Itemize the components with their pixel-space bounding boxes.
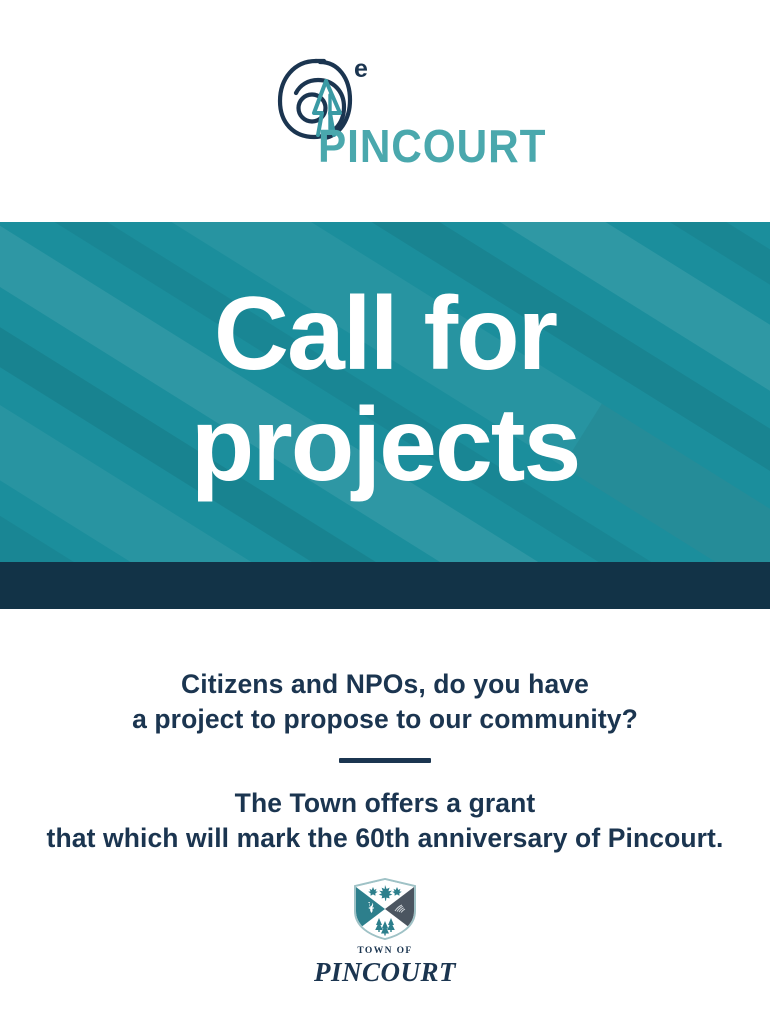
banner-headline: Call for projects bbox=[0, 279, 770, 506]
town-name-label: PINCOURT bbox=[314, 959, 456, 986]
intro-paragraph-line-2: a project to propose to our community? bbox=[132, 702, 638, 737]
anniversary-logo: e PINCOURT bbox=[270, 51, 500, 171]
grant-paragraph-line-2: that which will mark the 60th anniversar… bbox=[47, 821, 724, 856]
hero-banner: Call for projects bbox=[0, 222, 770, 562]
section-divider bbox=[339, 758, 431, 763]
poster-header: e PINCOURT bbox=[0, 0, 770, 222]
poster-footer: TOWN OF PINCOURT bbox=[0, 878, 770, 987]
town-crest-icon bbox=[352, 878, 418, 940]
poster-page: e PINCOURT bbox=[0, 0, 770, 1024]
pincourt-wordmark: PINCOURT bbox=[318, 123, 546, 169]
intro-paragraph: Citizens and NPOs, do you have a project… bbox=[132, 667, 638, 737]
grant-paragraph-line-1: The Town offers a grant bbox=[47, 786, 724, 821]
banner-headline-line-2: projects bbox=[0, 390, 770, 501]
grant-paragraph: The Town offers a grant that which will … bbox=[47, 786, 724, 856]
ordinal-suffix-glyph: e bbox=[354, 55, 368, 83]
accent-bar bbox=[0, 562, 770, 609]
banner-headline-line-1: Call for bbox=[0, 279, 770, 390]
intro-paragraph-line-1: Citizens and NPOs, do you have bbox=[132, 667, 638, 702]
town-of-label: TOWN OF bbox=[357, 947, 412, 957]
